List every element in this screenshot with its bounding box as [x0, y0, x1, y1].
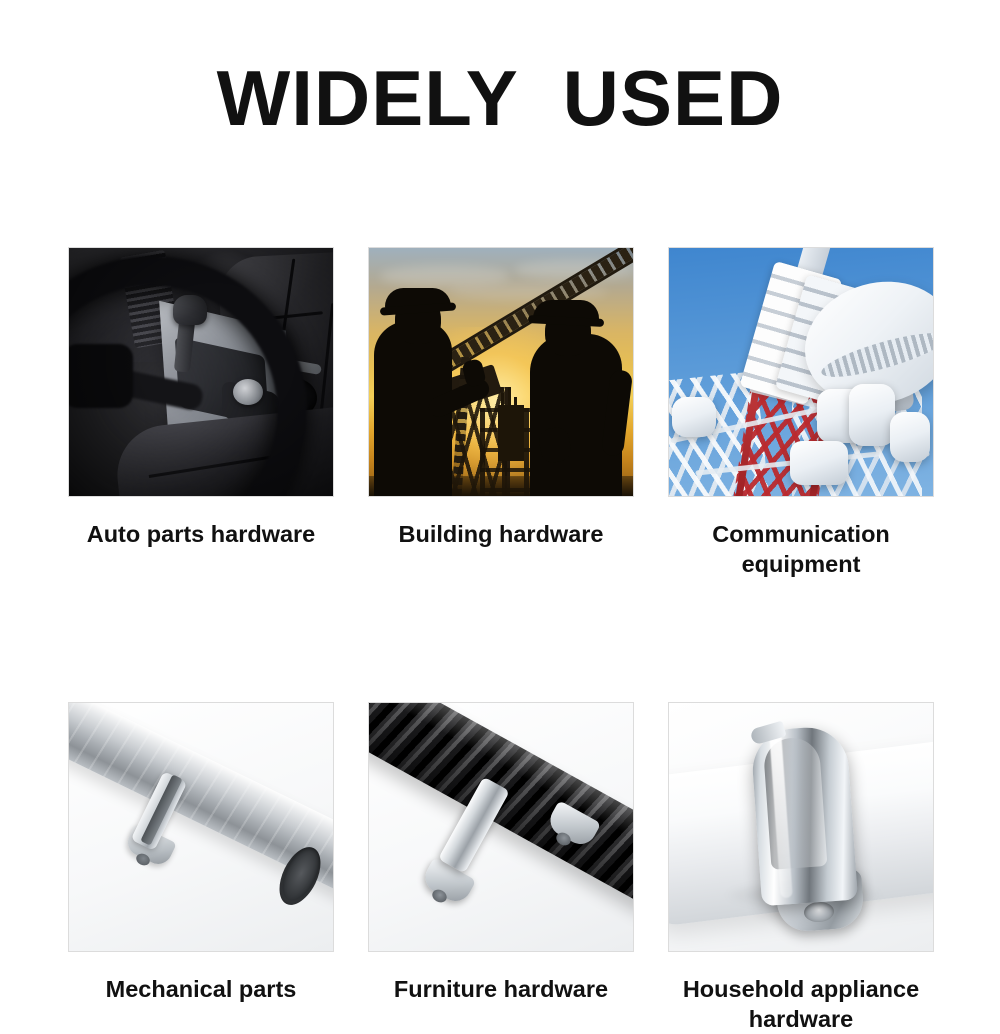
thumbnail-household[interactable] [668, 702, 934, 952]
vignette-overlay [69, 248, 333, 496]
microwave-drum-antenna-shape [672, 397, 716, 437]
widely-used-infographic: WIDELY USED [0, 0, 1000, 1000]
microwave-drum-antenna-shape [890, 412, 930, 462]
communication-tower-image [669, 248, 933, 496]
rebar-shape [508, 387, 511, 419]
thumbnail-communication[interactable] [668, 247, 934, 497]
construction-sunset-image [369, 248, 633, 496]
application-card-communication[interactable]: Communication equipment [668, 247, 934, 579]
caption-household: Household appliance hardware [668, 974, 934, 1034]
rebar-shape [501, 393, 504, 419]
car-interior-image [69, 248, 333, 496]
caption-building: Building hardware [368, 519, 634, 549]
application-card-auto-parts[interactable]: Auto parts hardware [68, 247, 334, 579]
caption-auto-parts: Auto parts hardware [68, 519, 334, 549]
microwave-drum-antenna-shape [849, 384, 895, 446]
chrome-clamp-white-pipe-image [669, 703, 933, 951]
application-card-building[interactable]: Building hardware [368, 247, 634, 579]
microwave-drum-antenna-shape [790, 441, 848, 485]
application-grid: Auto parts hardware [68, 247, 934, 1034]
thumbnail-furniture[interactable] [368, 702, 634, 952]
thumbnail-mechanical[interactable] [68, 702, 334, 952]
thumbnail-building[interactable] [368, 247, 634, 497]
corrugated-hose-clamp-image [369, 703, 633, 951]
thumbnail-auto-parts[interactable] [68, 247, 334, 497]
caption-communication: Communication equipment [668, 519, 934, 579]
application-card-mechanical[interactable]: Mechanical parts [68, 702, 334, 1034]
application-card-household[interactable]: Household appliance hardware [668, 702, 934, 1034]
steel-pipe-clamp-image [69, 703, 333, 951]
page-title: WIDELY USED [0, 58, 1000, 140]
rebar-shape [514, 397, 517, 419]
application-card-furniture[interactable]: Furniture hardware [368, 702, 634, 1034]
